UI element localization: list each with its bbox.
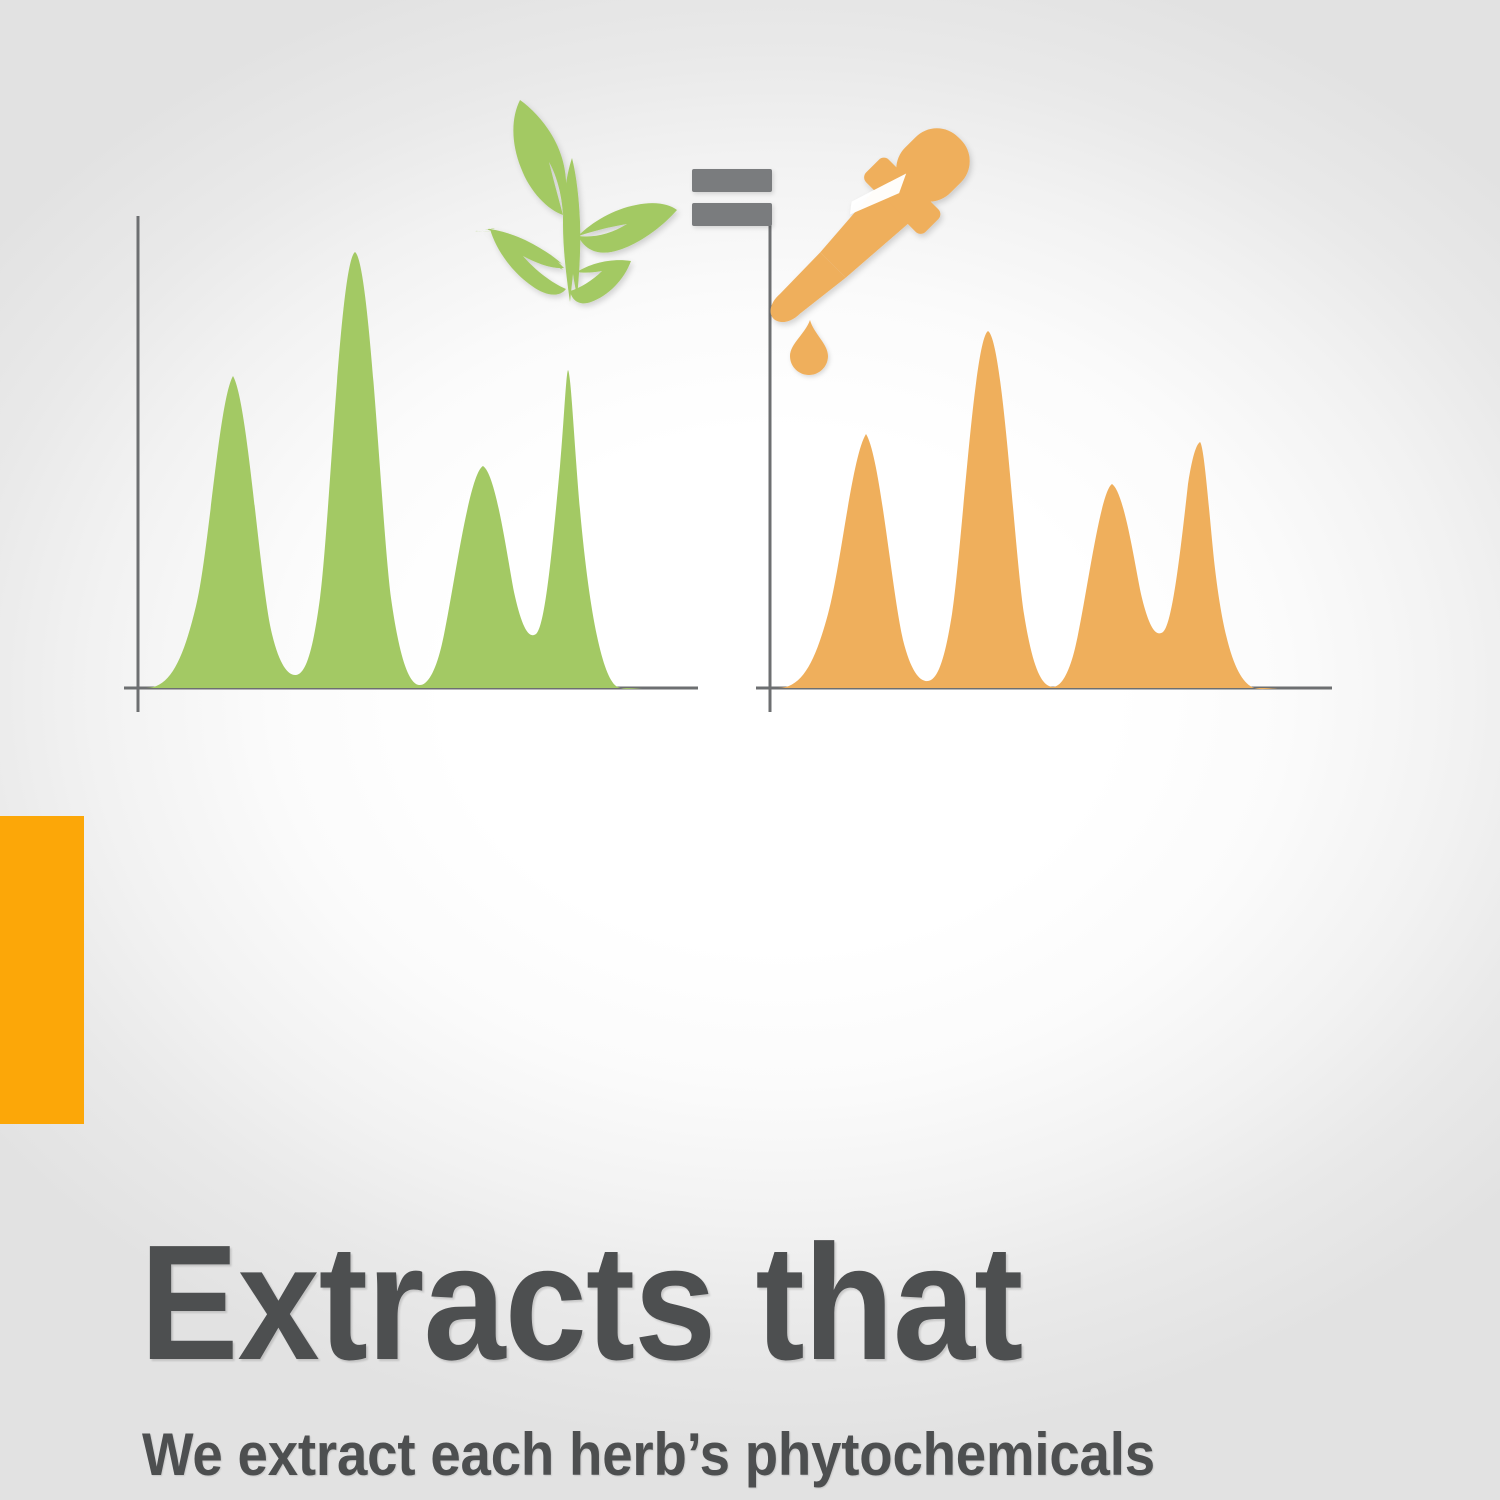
liquid-droplet-icon [790, 320, 828, 375]
orange-accent-bar [0, 816, 84, 1124]
poster-canvas: Extracts that mirror the plant We extrac… [0, 0, 1500, 1500]
body-copy: We extract each herb’s phytochemicals as… [142, 1278, 1252, 1500]
area-series-green [146, 252, 698, 689]
equals-sign-icon [692, 169, 772, 226]
gridlines-left [128, 242, 698, 662]
chart-plant-chromatogram [124, 216, 698, 712]
body-copy-line-1: We extract each herb’s phytochemicals [142, 1420, 1252, 1491]
chart-extract-chromatogram [756, 216, 1332, 712]
area-series-orange [778, 331, 1332, 689]
eyedropper-icon [747, 109, 990, 352]
gridlines-right [760, 242, 1332, 662]
plant-sprout-icon [476, 100, 677, 303]
